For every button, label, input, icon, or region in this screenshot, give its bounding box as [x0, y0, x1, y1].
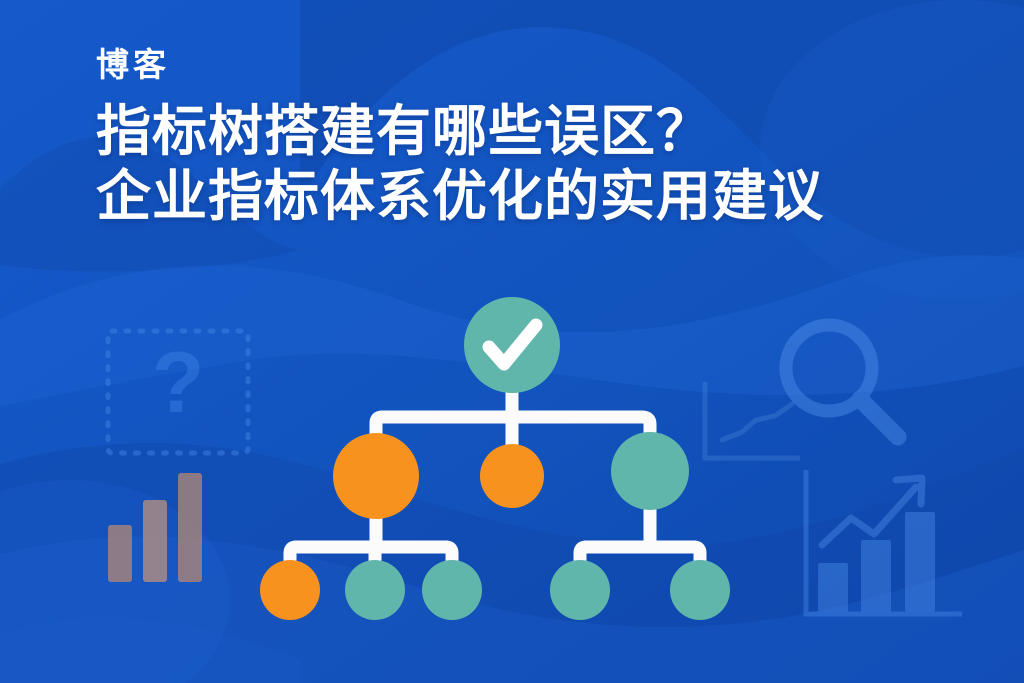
tree-node-l2-a — [333, 433, 419, 519]
headline-block: 博客 指标树搭建有哪些误区？ 企业指标体系优化的实用建议 — [96, 44, 1024, 229]
connector-left-branch-end-l — [290, 547, 296, 560]
eyebrow-label: 博客 — [96, 44, 1024, 85]
page-title-line-2: 企业指标体系优化的实用建议 — [96, 164, 1024, 229]
page-title: 指标树搭建有哪些误区？ 企业指标体系优化的实用建议 — [96, 99, 1024, 229]
connector-left-branch-end-r — [446, 547, 452, 560]
tree-node-root — [464, 297, 560, 393]
tree-node-l3-c — [422, 560, 482, 620]
blog-banner: ? — [0, 0, 1024, 683]
connector-right-branch-end-r — [694, 547, 700, 560]
page-title-line-1: 指标树搭建有哪些误区？ — [96, 99, 1024, 164]
tree-node-l3-b — [345, 560, 405, 620]
connector-bus-left-drop — [376, 417, 382, 433]
tree-node-l3-e — [670, 560, 730, 620]
tree-node-l3-d — [550, 560, 610, 620]
tree-node-l2-c — [611, 432, 689, 510]
tree-node-l3-a — [260, 560, 320, 620]
connector-right-branch-end-l — [580, 547, 586, 560]
connector-bus-right-drop — [642, 417, 650, 432]
tree-node-l2-b — [480, 444, 544, 508]
